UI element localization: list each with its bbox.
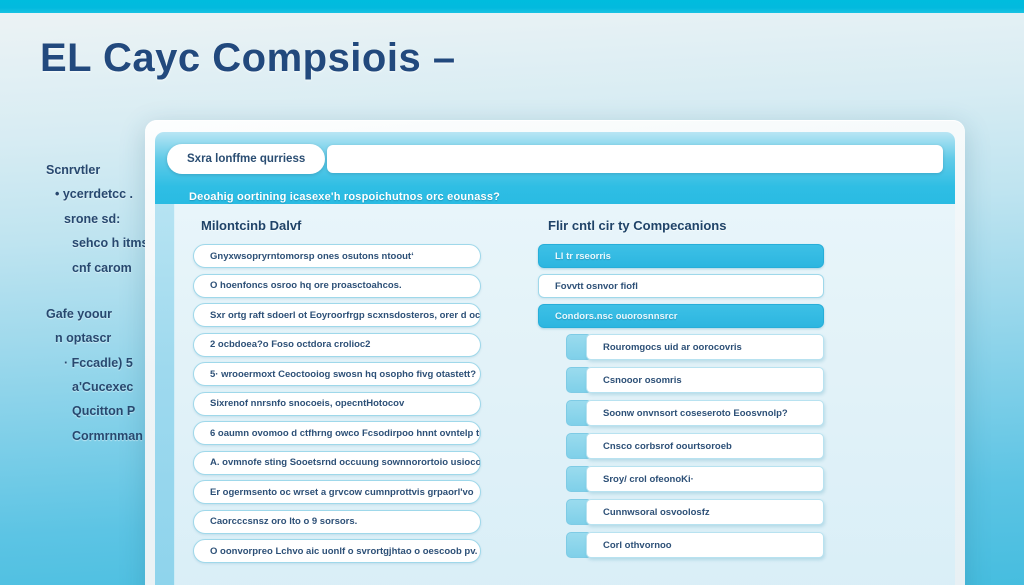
- list-item[interactable]: Caorcccsnsz oro lto o 9 sorsors.: [193, 510, 481, 534]
- list-item-label: Condors.nsc ouorosnnsrcr: [538, 304, 824, 328]
- left-rail: [155, 204, 175, 585]
- list-item[interactable]: A. ovmnofe sting Sooetsrnd occuung sownn…: [193, 451, 481, 475]
- list-item[interactable]: O hoenfoncs osroo hq ore proasctoahcos.: [193, 274, 481, 298]
- list-item[interactable]: O oonvorpreo Lchvo aic uonlf o svrortgjh…: [193, 539, 481, 563]
- list-item-label: Fovvtt osnvor fiofl: [538, 274, 824, 298]
- list-item[interactable]: Sixrenof nnrsnfo snocoeis, opecntHotocov: [193, 392, 481, 416]
- list-item[interactable]: 2 ocbdoea?o Foso octdora crolioc2: [193, 333, 481, 357]
- list-item[interactable]: Corl othvornoo: [538, 532, 838, 558]
- search-field-wrapper[interactable]: [327, 145, 943, 173]
- columns-container: Gnyxwsopryrntomorsp ones osutons ntoout‘…: [193, 244, 933, 585]
- list-item[interactable]: Fovvtt osnvor fiofl: [538, 274, 838, 298]
- app-window-card: Sxra lonffme qurriess Deoahig oortining …: [145, 120, 965, 585]
- column-header-left: Milontcinb Dalvf: [201, 218, 301, 233]
- list-item-label: Cunnwsoral osvoolosfz: [586, 499, 824, 525]
- list-item[interactable]: Rouromgocs uid ar oorocovris: [538, 334, 838, 360]
- top-accent-bar: [0, 0, 1024, 13]
- list-item[interactable]: Csnooor osomris: [538, 367, 838, 393]
- list-item[interactable]: Gnyxwsopryrntomorsp ones osutons ntoout‘: [193, 244, 481, 268]
- list-item-label: Csnooor osomris: [586, 367, 824, 393]
- list-item[interactable]: Condors.nsc ouorosnnsrcr: [538, 304, 838, 328]
- list-item-label: Corl othvornoo: [586, 532, 824, 558]
- list-item-label: Cnsco corbsrof oourtsoroeb: [586, 433, 824, 459]
- list-item-label: Ll tr rseorris: [538, 244, 824, 268]
- list-item[interactable]: 5· wrooermoxt Ceoctooiog swosn hq osopho…: [193, 362, 481, 386]
- saved-queries-button[interactable]: Sxra lonffme qurriess: [167, 144, 325, 174]
- column-header-right: Flir cntl cir ty Compecanions: [548, 218, 726, 233]
- list-item-label: Soonw onvnsort coseseroto Eoosvnolp?: [586, 400, 824, 426]
- list-item[interactable]: Sxr ortg raft sdoerl ot Eoyroorfrgp scxn…: [193, 303, 481, 327]
- list-item[interactable]: Sroy/ crol ofeonoKi·: [538, 466, 838, 492]
- page-title: EL Cayc Compsiois –: [40, 36, 760, 81]
- column-headers: Milontcinb Dalvf Flir cntl cir ty Compec…: [193, 218, 933, 244]
- left-column-list: Gnyxwsopryrntomorsp ones osutons ntoout‘…: [193, 244, 481, 569]
- list-item[interactable]: Ll tr rseorris: [538, 244, 838, 268]
- search-input[interactable]: [327, 145, 943, 173]
- list-item[interactable]: Er ogermsento oc wrset a grvcow cumnprot…: [193, 480, 481, 504]
- toolbar-row: Sxra lonffme qurriess: [155, 144, 955, 176]
- list-item[interactable]: Cunnwsoral osvoolosfz: [538, 499, 838, 525]
- list-item[interactable]: Cnsco corbsrof oourtsoroeb: [538, 433, 838, 459]
- list-item[interactable]: Soonw onvnsort coseseroto Eoosvnolp?: [538, 400, 838, 426]
- content-panel: Milontcinb Dalvf Flir cntl cir ty Compec…: [175, 204, 955, 585]
- list-item-label: Rouromgocs uid ar oorocovris: [586, 334, 824, 360]
- right-column-list: Ll tr rseorrisFovvtt osnvor fioflCondors…: [538, 244, 838, 565]
- list-item-label: Sroy/ crol ofeonoKi·: [586, 466, 824, 492]
- list-item[interactable]: 6 oaumn ovomoo d ctfhrng owco Fcsodirpoo…: [193, 421, 481, 445]
